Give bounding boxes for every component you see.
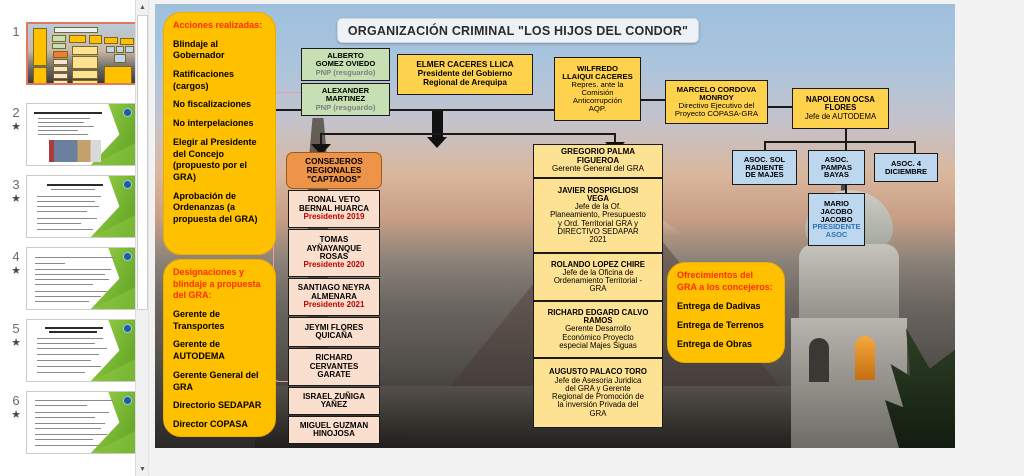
callout-designaciones-item: Director COPASA <box>173 419 266 431</box>
node-consejeros-regionales: CONSEJEROS REGIONALES "CAPTADOS" <box>286 152 382 189</box>
callout-designaciones: Designaciones y blindaje a propuesta del… <box>163 259 276 437</box>
thumbnail-mini-render <box>28 24 136 83</box>
thumbnail-number: 2 <box>12 105 19 120</box>
list-item-consejero: RONAL VETO BERNAL HUARCA Presidente 2019 <box>288 190 380 228</box>
callout-acciones-item: Elegir al Presidente del Concejo (propue… <box>173 137 266 184</box>
callout-acciones-item: No interpelaciones <box>173 118 266 130</box>
thumbnail-preview-3[interactable] <box>26 175 138 238</box>
node-richard-edgard-calvo-ramos: RICHARD EDGARD CALVO RAMOS Gerente Desar… <box>533 301 663 358</box>
thumbnail-star-icon: ★ <box>11 193 21 205</box>
thumbnail-mini-render <box>27 248 137 309</box>
thumbnail-meta: 1 <box>0 22 26 40</box>
callout-designaciones-item: Gerente General del GRA <box>173 370 266 393</box>
thumbnail-meta: 3 ★ <box>0 175 26 205</box>
callout-acciones-item: Blindaje al Gobernador <box>173 39 266 62</box>
list-item-consejero: RICHARD CERVANTES GARATE <box>288 348 380 386</box>
slide-stage[interactable]: ORGANIZACIÓN CRIMINAL "LOS HIJOS DEL CON… <box>148 0 1024 476</box>
thumbnail-mini-render <box>27 320 137 381</box>
connector-elmer-arrowhead <box>427 137 447 148</box>
thumbnail-mini-render <box>27 392 137 453</box>
thumbnail-preview-4[interactable] <box>26 247 138 310</box>
callout-ofrecimientos-item: Entrega de Terrenos <box>677 320 775 332</box>
node-alberto-gomez-oviedo: ALBERTO GOMEZ OVIEDO PNP (resguardo) <box>301 48 390 81</box>
callout-designaciones-item: Gerente de Transportes <box>173 309 266 332</box>
thumbnail-mini-render <box>27 176 137 237</box>
node-elmer-caceres-llica: ELMER CACERES LLICA Presidente del Gobie… <box>397 54 533 95</box>
node-marcelo-cordova-monroy: MARCELO CORDOVA MONROY Directivo Ejecuti… <box>665 80 768 124</box>
thumbnail-number: 3 <box>12 177 19 192</box>
thumbnail-preview-6[interactable] <box>26 391 138 454</box>
connector-bus-lower <box>320 133 615 135</box>
connector-wilfredo-marcelo <box>640 99 665 101</box>
thumbnail-item-6[interactable]: 6 ★ <box>0 391 148 454</box>
callout-designaciones-item: Directorio SEDAPAR <box>173 400 266 412</box>
node-mario-jacobo-jacobo: MARIO JACOBO JACOBO PRESIDENTE ASOC <box>808 193 865 246</box>
callout-acciones-heading: Acciones realizadas: <box>173 20 266 32</box>
list-item-consejero: MIGUEL GUZMAN HINOJOSA <box>288 416 380 444</box>
callout-designaciones-heading: Designaciones y blindaje a propuesta del… <box>173 267 266 302</box>
callout-designaciones-item: Gerente de AUTODEMA <box>173 339 266 362</box>
slide-canvas[interactable]: ORGANIZACIÓN CRIMINAL "LOS HIJOS DEL CON… <box>155 4 955 448</box>
list-item-consejero: SANTIAGO NEYRA ALMENARA Presidente 2021 <box>288 278 380 316</box>
thumbnail-item-4[interactable]: 4 ★ <box>0 247 148 310</box>
node-rolando-lopez-chire: ROLANDO LOPEZ CHIRE Jefe de la Oficina d… <box>533 253 663 301</box>
callout-ofrecimientos: Ofrecimientos del GRA a los concejeros: … <box>667 262 785 363</box>
slide-thumbnail-pane[interactable]: 1 <box>0 0 148 476</box>
connector-asoc-bus <box>764 141 914 143</box>
thumbnail-meta: 6 ★ <box>0 391 26 421</box>
node-asoc-4-diciembre: ASOC. 4 DICIEMBRE <box>874 153 938 182</box>
thumbnail-item-5[interactable]: 5 ★ <box>0 319 148 382</box>
callout-ofrecimientos-heading: Ofrecimientos del GRA a los concejeros: <box>677 270 775 294</box>
node-napoleon-ocsa-flores: NAPOLEON OCSA FLORES Jefe de AUTODEMA <box>792 88 889 129</box>
list-item-consejero: ISRAEL ZUÑIGA YAÑEZ <box>288 387 380 415</box>
org-chart-diagram: ORGANIZACIÓN CRIMINAL "LOS HIJOS DEL CON… <box>155 4 955 448</box>
callout-acciones-realizadas: Acciones realizadas: Blindaje al Goberna… <box>163 12 276 255</box>
thumbnail-star-icon: ★ <box>11 409 21 421</box>
thumbnail-star-icon: ★ <box>11 265 21 277</box>
node-gregorio-palma-figueroa: GREGORIO PALMA FIGUEROA Gerente General … <box>533 144 663 178</box>
thumbnail-item-3[interactable]: 3 ★ <box>0 175 148 238</box>
thumbnail-meta: 2 ★ <box>0 103 26 133</box>
connector-pampas-mario <box>845 184 847 193</box>
scroll-down-icon[interactable]: ▼ <box>136 462 148 476</box>
thumbnail-item-2[interactable]: 2 ★ <box>0 103 148 166</box>
thumbnail-number: 4 <box>12 249 19 264</box>
thumbnail-meta: 4 ★ <box>0 247 26 277</box>
thumbnail-star-icon: ★ <box>11 121 21 133</box>
scrollbar-thumb[interactable] <box>137 15 148 310</box>
callout-ofrecimientos-item: Entrega de Obras <box>677 339 775 351</box>
connector-asoc-4dic-drop <box>914 141 916 153</box>
node-wilfredo-llaiqui-caceres: WILFREDO LLAIQUI CACERES Repres. ante la… <box>554 57 641 121</box>
thumbnail-preview-1[interactable] <box>26 22 138 85</box>
node-asoc-sol-radiente: ASOC. SOL RADIENTE DE MAJES <box>732 150 797 185</box>
node-javier-rospigliosi-vega: JAVIER ROSPIGLIOSI VEGA Jefe de la Of. P… <box>533 178 663 253</box>
callout-acciones-item: Ratificaciones (cargos) <box>173 69 266 92</box>
node-alexander-martinez: ALEXANDER MARTINEZ PNP (resguardo) <box>301 83 390 116</box>
callout-acciones-item: Aprobación de Ordenanzas (a propuesta de… <box>173 191 266 226</box>
callout-ofrecimientos-item: Entrega de Dadivas <box>677 301 775 313</box>
node-asoc-pampas-bayas: ASOC. PAMPAS BAYAS <box>808 150 865 185</box>
callout-acciones-item: No fiscalizaciones <box>173 99 266 111</box>
thumbnail-number: 1 <box>12 24 19 39</box>
thumbnail-preview-2[interactable] <box>26 103 138 166</box>
thumbnail-star-icon: ★ <box>11 337 21 349</box>
thumbnail-number: 6 <box>12 393 19 408</box>
thumbnail-meta: 5 ★ <box>0 319 26 349</box>
thumbnail-number: 5 <box>12 321 19 336</box>
connector-asoc-pampas-drop <box>845 141 847 150</box>
thumbnail-scrollbar[interactable]: ▲ ▼ <box>135 0 148 476</box>
scroll-up-icon[interactable]: ▲ <box>136 0 148 14</box>
page-title: ORGANIZACIÓN CRIMINAL "LOS HIJOS DEL CON… <box>337 18 699 43</box>
list-item-consejero: JEYMI FLORES QUICAÑA <box>288 317 380 347</box>
thumbnail-preview-5[interactable] <box>26 319 138 382</box>
node-augusto-palaco-toro: AUGUSTO PALACO TORO Jefe de Asesoria Jur… <box>533 358 663 428</box>
presentation-window: 1 <box>0 0 1024 476</box>
connector-marcelo-napoleon <box>768 106 792 108</box>
connector-asoc-sol-drop <box>764 141 766 150</box>
thumbnail-item-1[interactable]: 1 <box>0 22 148 85</box>
list-item-consejero: TOMAS AYÑAYANQUE ROSAS Presidente 2020 <box>288 229 380 277</box>
thumbnail-mini-render <box>27 104 137 165</box>
